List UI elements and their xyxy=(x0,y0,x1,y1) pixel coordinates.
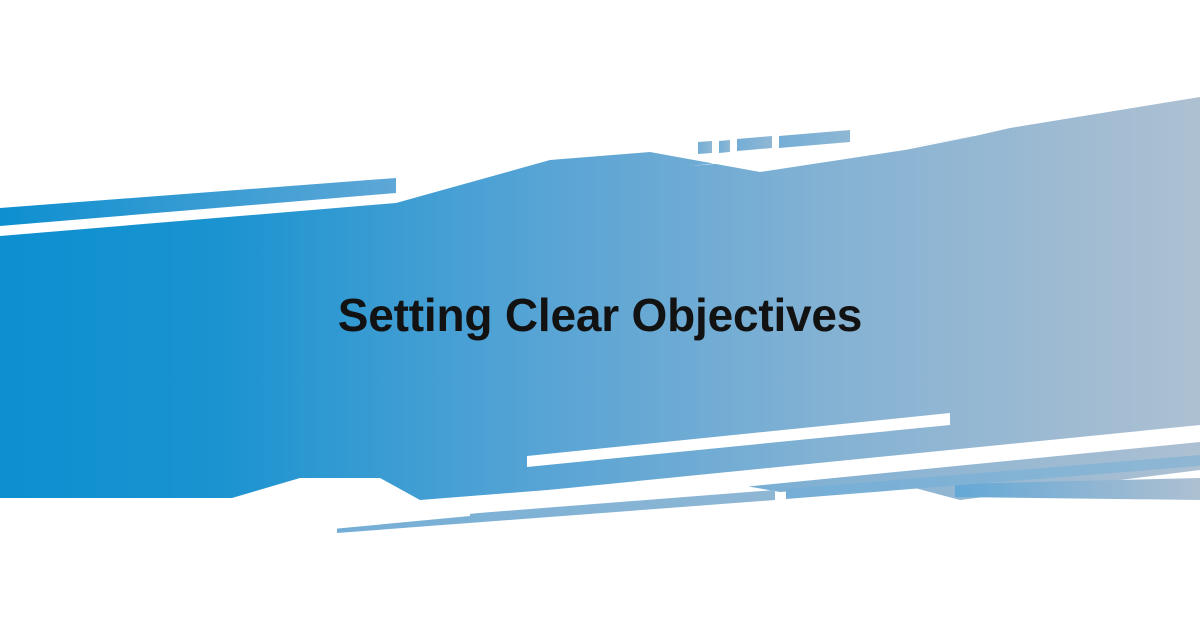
art-dash-mark-1 xyxy=(698,141,712,154)
banner-background-art xyxy=(0,0,1200,630)
art-dash-mark-2 xyxy=(719,140,730,153)
banner-card: Setting Clear Objectives xyxy=(0,0,1200,630)
